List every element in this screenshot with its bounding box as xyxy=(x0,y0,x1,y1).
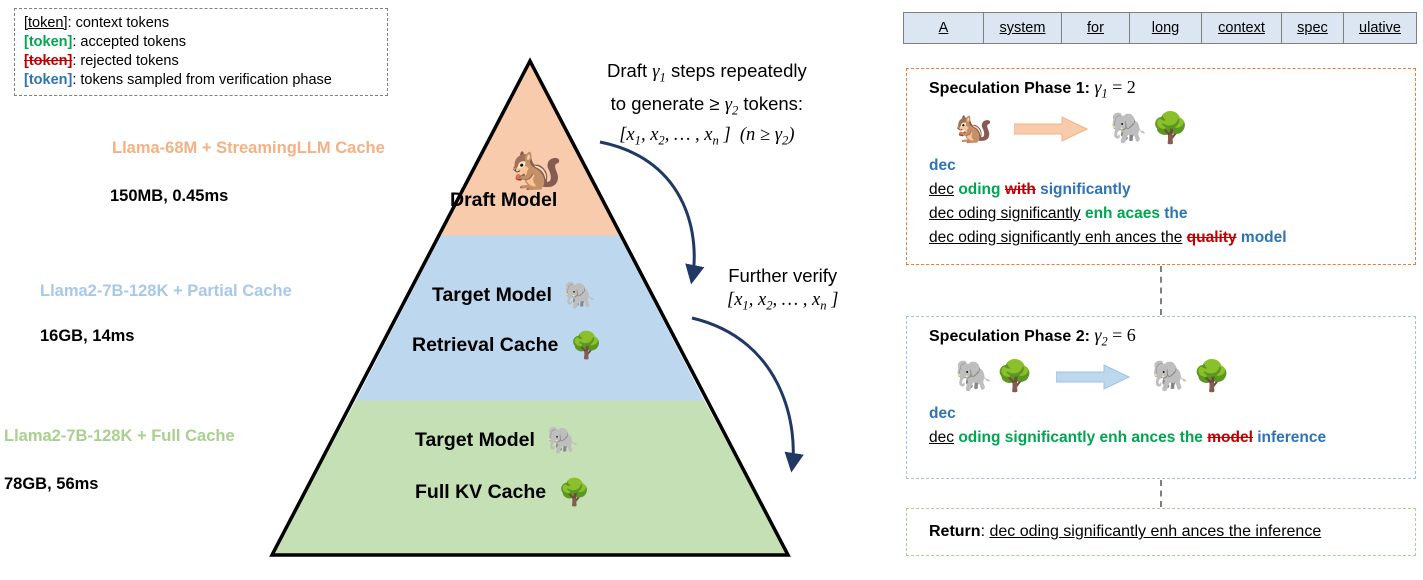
phase2-line-1: dec xyxy=(929,402,1393,426)
phase2-gamma-value: = 6 xyxy=(1112,325,1136,345)
speculation-phase-1-box: Speculation Phase 1: γ1 = 2 🐿️ 🐘 🌳 dec d… xyxy=(906,68,1416,265)
phase1-line-2: dec oding with significantly xyxy=(929,178,1393,202)
tier-stats-full: 78GB, 56ms xyxy=(4,475,98,494)
draft-note-word-draft: Draft xyxy=(607,60,647,81)
draft-note-line1: Draft γ1 steps repeatedly xyxy=(607,58,807,91)
phase1-icon-row: 🐿️ 🐘 🌳 xyxy=(929,106,1393,152)
phase2-sequence-lines: dec dec oding significantly enh ances th… xyxy=(929,402,1393,450)
token-cell-for[interactable]: for xyxy=(1062,13,1130,43)
elephant-icon: 🐘 xyxy=(1152,362,1189,392)
pyramid-label-draft-model: Draft Model xyxy=(450,189,557,212)
phase1-sequence-lines: dec dec oding with significantly dec odi… xyxy=(929,154,1393,250)
pyramid-label-target-model-partial: Target Model 🐘 xyxy=(432,282,596,308)
token-cell-ulative[interactable]: ulative xyxy=(1344,13,1416,43)
pyramid-label-text: Target Model xyxy=(432,284,552,307)
phase2-icon-row: 🐘 🌳 🐘 🌳 xyxy=(929,354,1393,400)
pyramid-label-text: Full KV Cache xyxy=(415,481,546,504)
pyramid-label-text: Target Model xyxy=(415,429,535,452)
draft-note-line1-tail: steps repeatedly xyxy=(671,60,807,81)
phase2-line-2: dec oding significantly enh ances the mo… xyxy=(929,426,1393,450)
phase1-line-1: dec xyxy=(929,154,1393,178)
draft-note-line2: to generate ≥ γ2 tokens: xyxy=(607,91,807,124)
return-text: dec oding significantly enh ances the in… xyxy=(989,523,1321,540)
legend-token-rejected: [token] xyxy=(24,53,72,69)
token-cell-long[interactable]: long xyxy=(1130,13,1202,43)
legend-row: [token]: accepted tokens xyxy=(24,33,378,52)
pyramid-label-text: Draft Model xyxy=(450,189,557,212)
arrow-draft-to-target xyxy=(600,142,694,280)
legend-token-verification: [token] xyxy=(24,72,72,88)
legend-token-context: [token] xyxy=(24,15,68,31)
arrow-right-icon xyxy=(1014,116,1088,142)
draft-note-line3: [x1, x2, … , xn ] (n ≥ γ2) xyxy=(607,123,807,154)
connector-phase1-to-phase2 xyxy=(1160,266,1162,315)
phase1-line-3: dec oding significantly enh acaes the xyxy=(929,202,1393,226)
arrow-right-icon xyxy=(1056,364,1130,390)
verify-note: Further verify [x1, x2, … , xn ] xyxy=(727,263,838,319)
squirrel-icon: 🐿️ xyxy=(510,148,562,190)
squirrel-icon: 🐿️ xyxy=(955,114,992,144)
phase2-title-prefix: Speculation Phase 2: xyxy=(929,328,1090,345)
return-line: Return: dec oding significantly enh ance… xyxy=(929,517,1393,541)
gamma1-symbol: γ1 xyxy=(652,62,666,82)
pyramid-label-target-model-full: Target Model 🐘 xyxy=(415,427,579,453)
verify-note-line1: Further verify xyxy=(727,263,838,288)
pyramid-label-text: Retrieval Cache xyxy=(412,334,558,357)
speculation-phase-2-box: Speculation Phase 2: γ2 = 6 🐘 🌳 🐘 🌳 dec … xyxy=(906,316,1416,479)
elephant-icon: 🐘 xyxy=(1110,114,1147,144)
legend-row: [token]: context tokens xyxy=(24,14,378,33)
token-cell-a[interactable]: A xyxy=(904,13,984,43)
tree-icon: 🌳 xyxy=(996,362,1033,392)
tier-stats-partial: 16GB, 14ms xyxy=(40,327,134,346)
legend-desc-accepted: : accepted tokens xyxy=(72,34,186,50)
gamma2-symbol: γ2 xyxy=(725,95,739,115)
draft-note-line2-head: to generate ≥ xyxy=(611,93,720,114)
token-strip: A system for long context spec ulative xyxy=(903,12,1417,44)
return-box: Return: dec oding significantly enh ance… xyxy=(906,508,1416,556)
token-cell-context[interactable]: context xyxy=(1202,13,1282,43)
elephant-icon: 🐘 xyxy=(547,427,579,453)
legend-desc-rejected: : rejected tokens xyxy=(72,53,178,69)
pyramid-label-retrieval-cache: Retrieval Cache 🌳 xyxy=(412,332,603,358)
forest-icon: 🌳 xyxy=(1193,362,1230,392)
legend-desc-context: : context tokens xyxy=(68,15,170,31)
draft-note: Draft γ1 steps repeatedly to generate ≥ … xyxy=(607,58,807,154)
phase1-gamma-symbol: γ1 xyxy=(1094,77,1107,97)
legend-token-accepted: [token] xyxy=(24,34,72,50)
phase1-gamma-value: = 2 xyxy=(1112,77,1136,97)
arrow-target-to-full xyxy=(692,318,793,468)
connector-phase2-to-return xyxy=(1160,480,1162,507)
phase2-gamma-symbol: γ2 xyxy=(1094,325,1107,345)
pyramid-label-full-kv-cache: Full KV Cache 🌳 xyxy=(415,479,591,505)
phase1-title: Speculation Phase 1: γ1 = 2 xyxy=(929,77,1393,102)
token-cell-system[interactable]: system xyxy=(984,13,1062,43)
return-label: Return xyxy=(929,523,981,540)
phase2-title: Speculation Phase 2: γ2 = 6 xyxy=(929,325,1393,350)
phase1-title-prefix: Speculation Phase 1: xyxy=(929,80,1090,97)
token-cell-spec[interactable]: spec xyxy=(1282,13,1344,43)
draft-note-line2-tail: tokens: xyxy=(743,93,803,114)
phase1-line-4: dec oding significantly enh ances the qu… xyxy=(929,226,1393,250)
verify-note-line2: [x1, x2, … , xn ] xyxy=(727,288,838,319)
elephant-icon: 🐘 xyxy=(955,362,992,392)
tree-icon: 🌳 xyxy=(1152,114,1189,144)
